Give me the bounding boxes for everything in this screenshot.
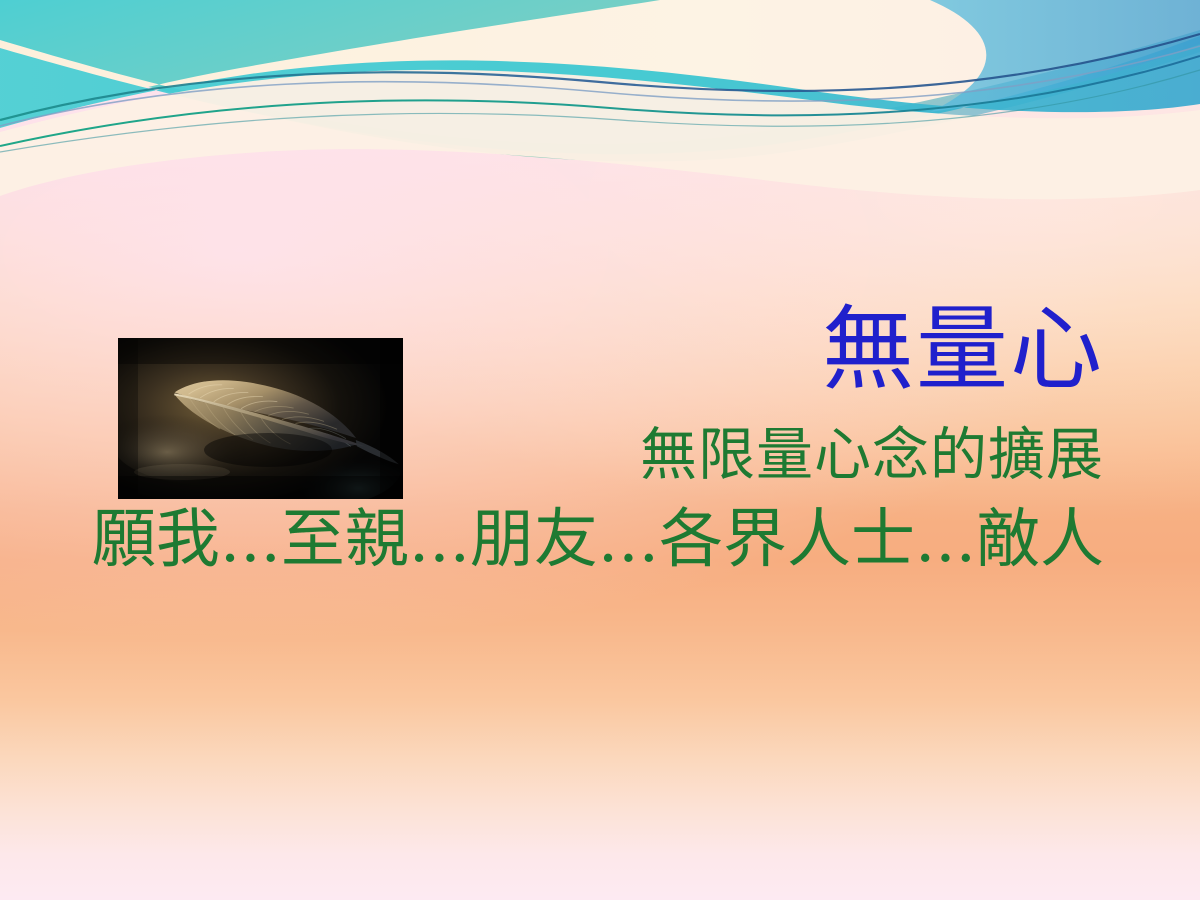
slide-subtitle: 無限量心念的擴展 (0, 424, 1104, 488)
slide-canvas: 無量心 無限量心念的擴展 願我...至親...朋友...各界人士...敵人 (0, 0, 1200, 900)
slide-title: 無量心 (0, 300, 1104, 399)
slide-wish-line: 願我...至親...朋友...各界人士...敵人 (0, 505, 1104, 577)
